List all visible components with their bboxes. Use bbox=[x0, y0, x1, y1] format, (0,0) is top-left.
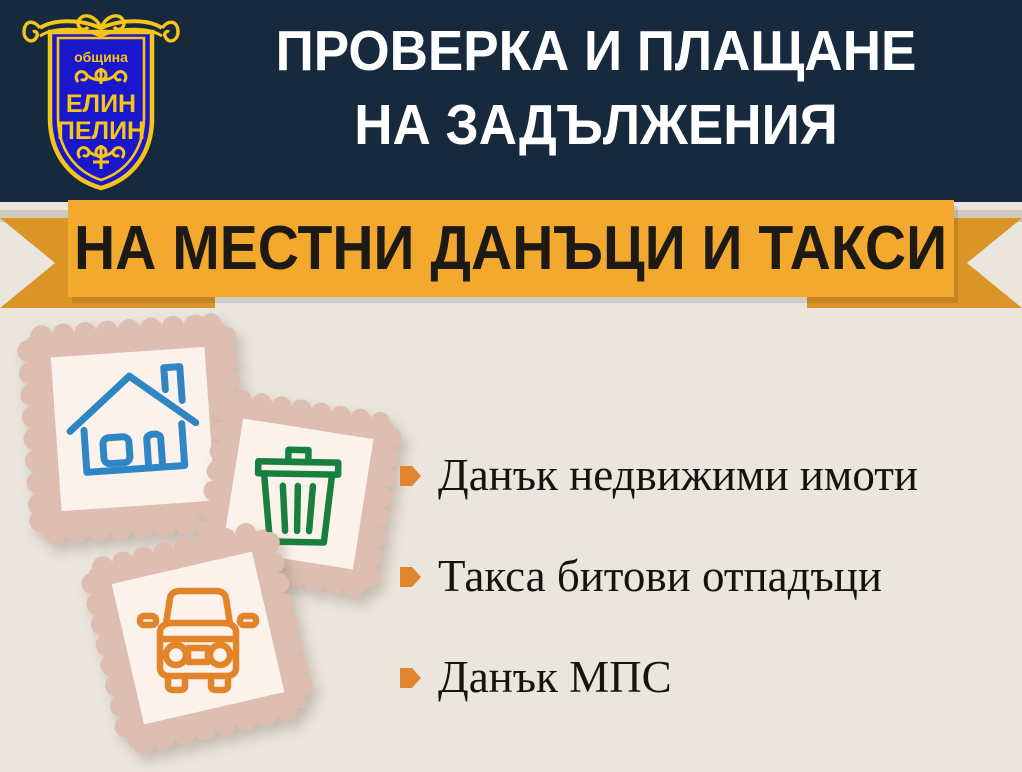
stamp-cards-group bbox=[0, 300, 420, 772]
poster-root: ПРОВЕРКА И ПЛАЩАНЕ НА ЗАДЪЛЖЕНИЯ община bbox=[0, 0, 1022, 772]
page-title-line1: ПРОВЕРКА И ПЛАЩАНЕ bbox=[276, 19, 917, 83]
pentagon-arrow-bullet-icon bbox=[400, 464, 422, 488]
list-item-label: Такса битови отпадъци bbox=[438, 552, 882, 600]
stamp-card-car bbox=[92, 532, 304, 749]
municipality-logo: община ЕЛИН ПЕЛИН bbox=[22, 6, 180, 191]
list-item[interactable]: Данък недвижими имоти bbox=[400, 424, 1020, 525]
tax-types-list: Данък недвижими имоти Такса битови отпад… bbox=[400, 424, 1020, 727]
ribbon-text: НА МЕСТНИ ДАНЪЦИ И ТАКСИ bbox=[74, 218, 947, 280]
logo-text-elin: ЕЛИН bbox=[66, 90, 136, 118]
crown-scroll-left bbox=[24, 22, 40, 41]
pentagon-arrow-bullet-icon bbox=[400, 565, 422, 589]
ribbon-bar: НА МЕСТНИ ДАНЪЦИ И ТАКСИ bbox=[68, 200, 954, 297]
list-item-label: Данък недвижими имоти bbox=[438, 451, 918, 499]
ribbon-banner: НА МЕСТНИ ДАНЪЦИ И ТАКСИ bbox=[0, 200, 1022, 310]
list-item-label: Данък МПС bbox=[438, 653, 672, 701]
list-item[interactable]: Данък МПС bbox=[400, 626, 1020, 727]
page-title: ПРОВЕРКА И ПЛАЩАНЕ НА ЗАДЪЛЖЕНИЯ bbox=[215, 14, 978, 162]
logo-text-obshtina: община bbox=[74, 49, 128, 65]
list-item[interactable]: Такса битови отпадъци bbox=[400, 525, 1020, 626]
logo-text-pelin: ПЕЛИН bbox=[57, 117, 145, 145]
crown-scroll-right bbox=[162, 22, 178, 41]
pentagon-arrow-bullet-icon bbox=[400, 666, 422, 690]
page-title-line2: НА ЗАДЪЛЖЕНИЯ bbox=[215, 88, 978, 162]
